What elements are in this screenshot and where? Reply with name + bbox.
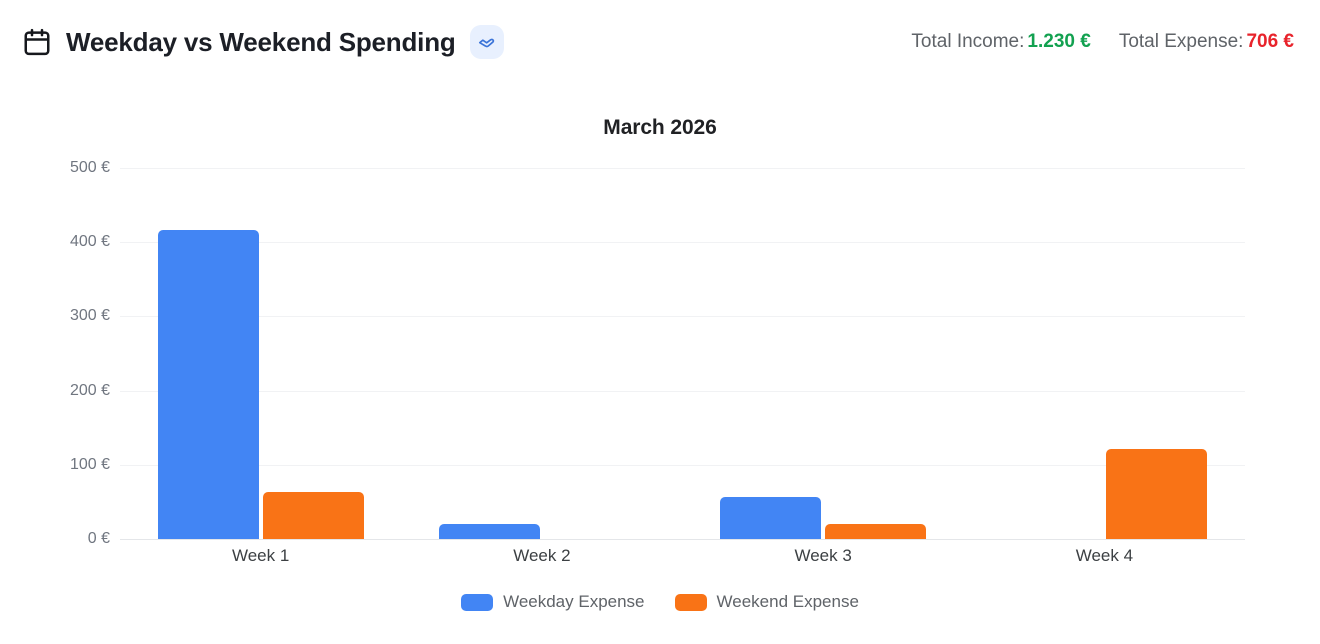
- chart-legend: Weekday ExpenseWeekend Expense: [0, 592, 1320, 612]
- axis-baseline: [120, 539, 1245, 540]
- spending-report-page: Weekday vs Weekend Spending Total Income…: [0, 0, 1320, 644]
- total-expense-label: Total Expense:: [1119, 31, 1244, 52]
- legend-swatch-icon: [461, 594, 493, 611]
- y-axis-labels: 0 €100 €200 €300 €400 €500 €: [0, 168, 110, 540]
- bar-weekend[interactable]: [263, 492, 364, 539]
- y-axis-tick-label: 100 €: [70, 456, 110, 474]
- y-axis-tick-label: 400 €: [70, 233, 110, 251]
- chart-plot-area: 0 €100 €200 €300 €400 €500 € Week 1Week …: [0, 168, 1320, 588]
- header-stats-group: Total Income:1.230 € Total Expense:706 €: [911, 31, 1294, 53]
- bar-weekend[interactable]: [1106, 449, 1207, 539]
- page-header: Weekday vs Weekend Spending Total Income…: [0, 0, 1320, 84]
- y-axis-tick-label: 500 €: [70, 159, 110, 177]
- calendar-icon: [22, 27, 52, 57]
- total-income-label: Total Income:: [911, 31, 1024, 52]
- bar-groups: [120, 168, 1245, 539]
- x-axis-labels: Week 1Week 2Week 3Week 4: [120, 546, 1245, 566]
- total-expense-value: 706 €: [1246, 31, 1294, 52]
- y-axis-tick-label: 200 €: [70, 382, 110, 400]
- handshake-icon: [477, 33, 496, 52]
- legend-label: Weekend Expense: [717, 592, 859, 612]
- bar-weekday[interactable]: [439, 524, 540, 539]
- bar-weekday[interactable]: [720, 497, 821, 539]
- total-expense-stat: Total Expense:706 €: [1119, 31, 1294, 53]
- total-income-value: 1.230 €: [1027, 31, 1090, 52]
- bar-group: [120, 168, 401, 539]
- legend-item[interactable]: Weekend Expense: [675, 592, 859, 612]
- header-left-group: Weekday vs Weekend Spending: [22, 25, 504, 59]
- bar-group: [964, 168, 1245, 539]
- chart-title: March 2026: [0, 116, 1320, 140]
- total-income-stat: Total Income:1.230 €: [911, 31, 1090, 53]
- y-axis-tick-label: 0 €: [88, 530, 110, 548]
- legend-item[interactable]: Weekday Expense: [461, 592, 644, 612]
- y-axis-tick-label: 300 €: [70, 307, 110, 325]
- x-axis-tick-label: Week 4: [964, 546, 1245, 566]
- page-title: Weekday vs Weekend Spending: [66, 27, 456, 58]
- x-axis-tick-label: Week 1: [120, 546, 401, 566]
- plot-canvas: [120, 168, 1245, 540]
- legend-swatch-icon: [675, 594, 707, 611]
- bar-group: [683, 168, 964, 539]
- bar-weekday[interactable]: [158, 230, 259, 539]
- x-axis-tick-label: Week 3: [683, 546, 964, 566]
- bar-group: [401, 168, 682, 539]
- legend-label: Weekday Expense: [503, 592, 644, 612]
- handshake-icon-button[interactable]: [470, 25, 504, 59]
- bar-weekend[interactable]: [825, 524, 926, 539]
- x-axis-tick-label: Week 2: [401, 546, 682, 566]
